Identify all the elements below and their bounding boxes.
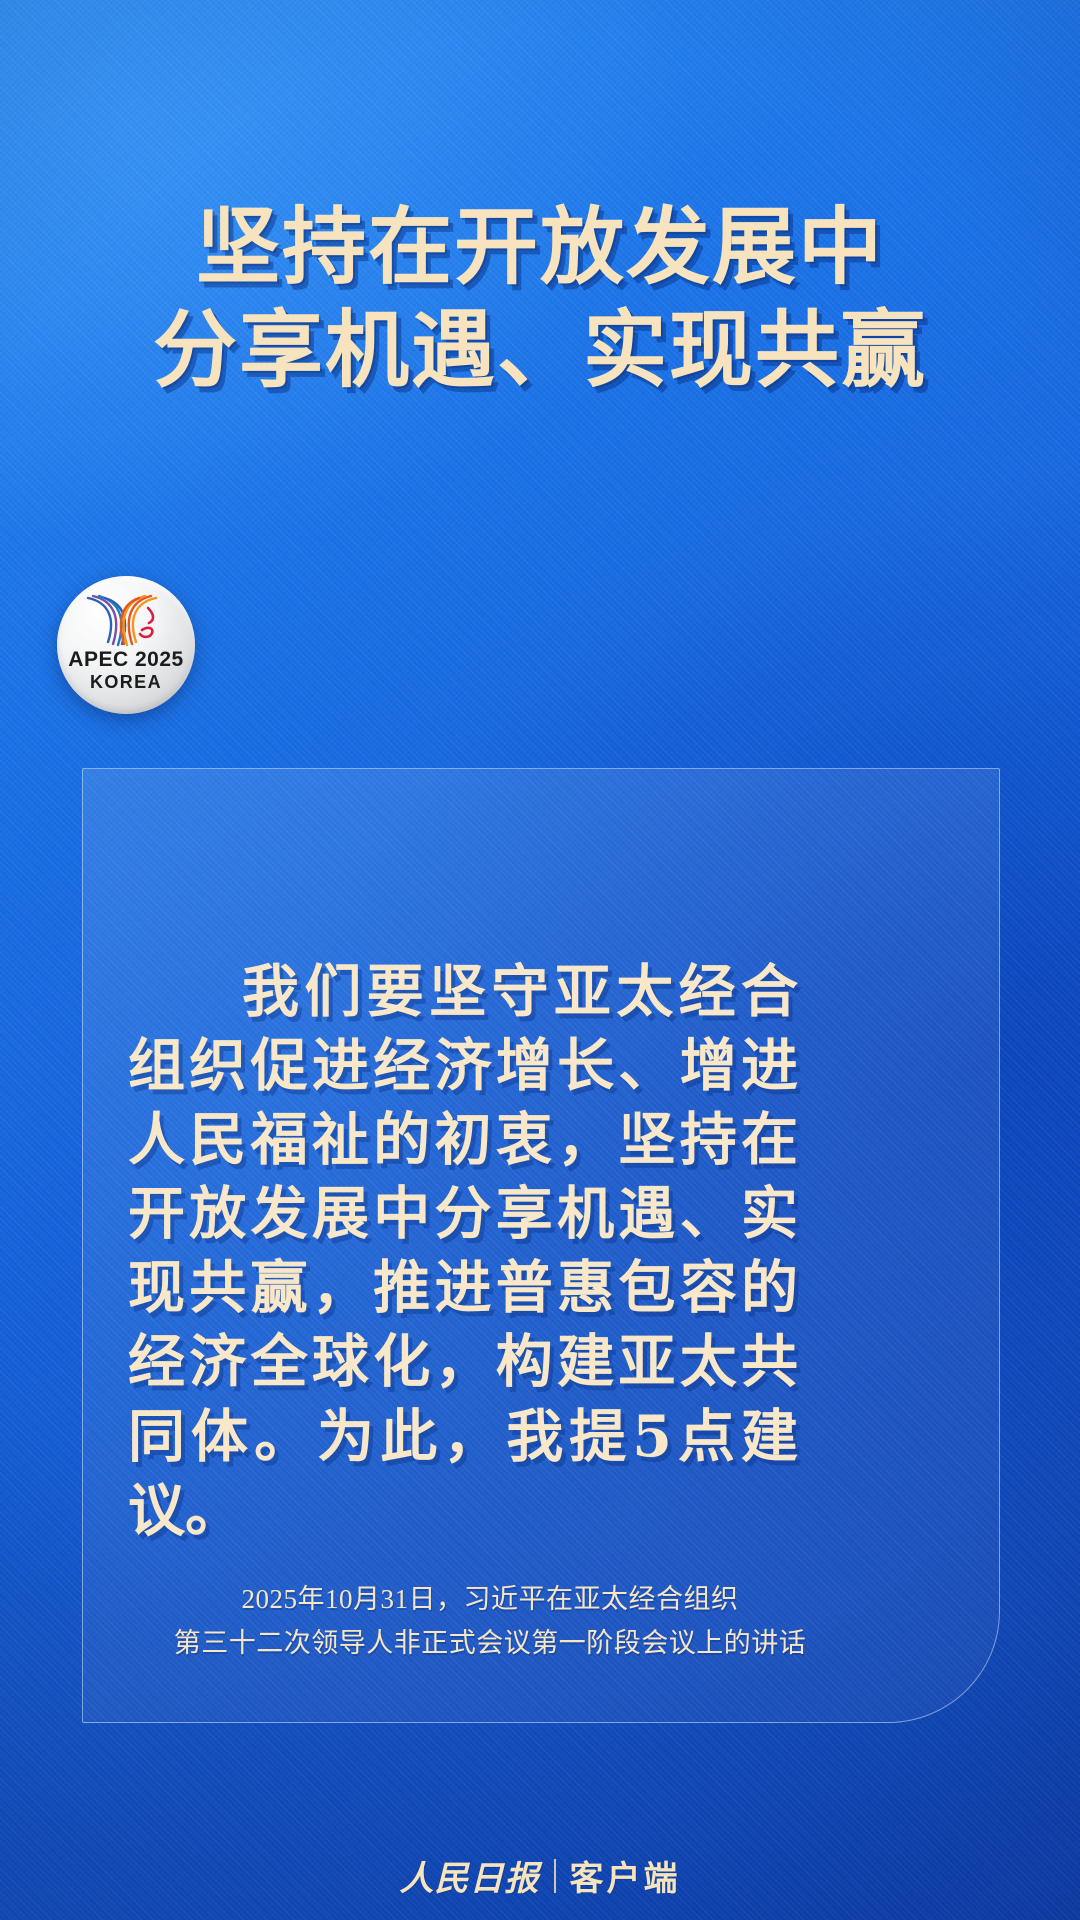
quote-attribution: 2025年10月31日，习近平在亚太经合组织 第三十二次领导人非正式会议第一阶段… [95,1578,885,1665]
apec-face-mark-icon [78,592,174,652]
attribution-line-1: 2025年10月31日，习近平在亚太经合组织 [95,1578,885,1622]
apec-logo-text-country: KOREA [57,672,195,693]
footer-divider [554,1859,556,1893]
quote-paragraph: 我们要坚守亚太经合组织促进经济增长、增进人民福祉的初衷，坚持在开放发展中分享机遇… [128,955,798,1548]
apec-logo-text-year: APEC 2025 [57,648,195,672]
app-client-label: 客户端 [570,1851,681,1900]
title-line-2: 分享机遇、实现共赢 [0,301,1080,400]
apec-2025-korea-logo: APEC 2025 KOREA [57,576,195,714]
poster-root: 坚持在开放发展中 分享机遇、实现共赢 APEC 2025 K [0,0,1080,1920]
title-line-1: 坚持在开放发展中 [0,198,1080,297]
quote-body: 我们要坚守亚太经合组织促进经济增长、增进人民福祉的初衷，坚持在开放发展中分享机遇… [128,955,798,1548]
peoples-daily-wordmark: 人民日报 [400,1851,540,1900]
footer-brand-lockup: 人民日报 客户端 [0,1851,1080,1900]
poster-title: 坚持在开放发展中 分享机遇、实现共赢 [0,198,1080,400]
attribution-line-2: 第三十二次领导人非正式会议第一阶段会议上的讲话 [95,1622,885,1666]
